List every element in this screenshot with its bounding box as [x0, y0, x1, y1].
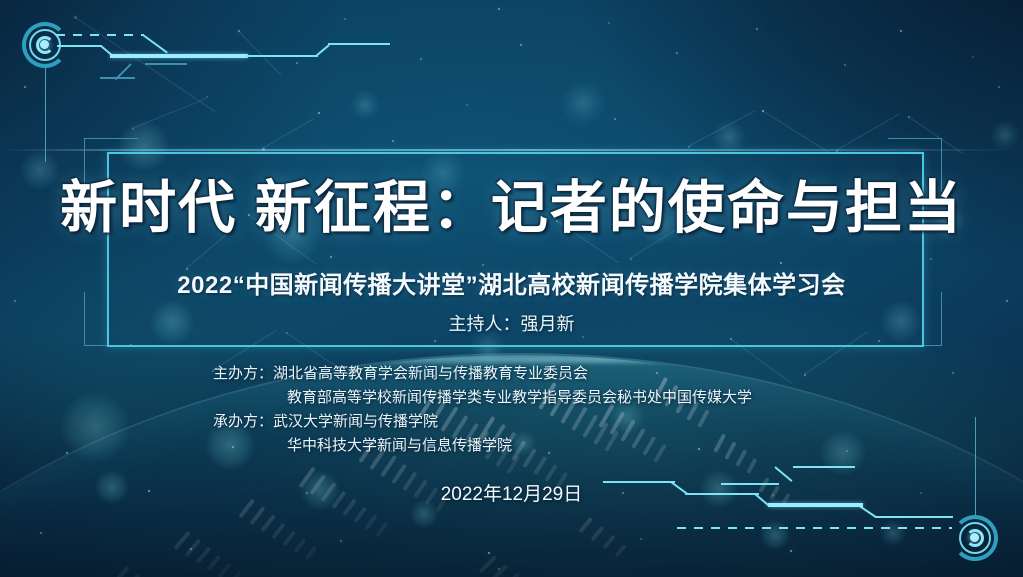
- slide-subtitle: 2022“中国新闻传播大讲堂”湖北高校新闻传播学院集体学习会: [0, 270, 1023, 302]
- organizer-line: 主办方：湖北省高等教育学会新闻与传播教育专业委员会: [213, 362, 853, 386]
- organizer-line: 华中科技大学新闻与信息传播学院: [213, 434, 853, 458]
- slide-host: 主持人：强月新: [0, 311, 1023, 337]
- presentation-slide: 新时代 新征程：记者的使命与担当 2022“中国新闻传播大讲堂”湖北高校新闻传播…: [0, 0, 1023, 577]
- organizer-line: 教育部高等学校新闻传播学类专业教学指导委员会秘书处中国传媒大学: [213, 386, 853, 410]
- slide-text: 新时代 新征程：记者的使命与担当 2022“中国新闻传播大讲堂”湖北高校新闻传播…: [0, 0, 1023, 577]
- slide-title: 新时代 新征程：记者的使命与担当: [0, 175, 1023, 241]
- organizer-block: 主办方：湖北省高等教育学会新闻与传播教育专业委员会教育部高等学校新闻传播学类专业…: [213, 362, 853, 458]
- slide-date: 2022年12月29日: [0, 481, 1023, 509]
- organizer-line: 承办方：武汉大学新闻与传播学院: [213, 410, 853, 434]
